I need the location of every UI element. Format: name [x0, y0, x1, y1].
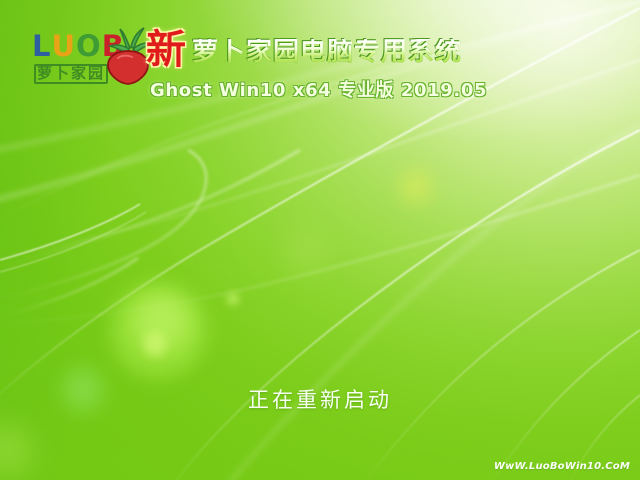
site-watermark: WwW.LuoBoWin10.CoM	[494, 461, 630, 472]
branding-header: LUOB 萝卜家园 新 萝卜家园电脑专用系统 萝卜家园电脑专用系统 Ghost …	[0, 0, 640, 118]
title-subtitle: Ghost Win10 x64 专业版 2019.05	[150, 82, 487, 100]
title-prefix: 新	[146, 30, 186, 70]
status-message: 正在重新启动	[0, 384, 640, 414]
logo-letter-l: L	[32, 32, 51, 61]
logo-letter-u: U	[51, 32, 76, 61]
title-main: 萝卜家园电脑专用系统	[192, 39, 462, 65]
boot-splash-screen: LUOB 萝卜家园 新 萝卜家园电脑专用系统 萝卜家园电脑专用系统 Ghost …	[0, 0, 640, 480]
logo-letter-o: O	[76, 32, 102, 61]
logo-chinese-name: 萝卜家园	[34, 64, 108, 84]
